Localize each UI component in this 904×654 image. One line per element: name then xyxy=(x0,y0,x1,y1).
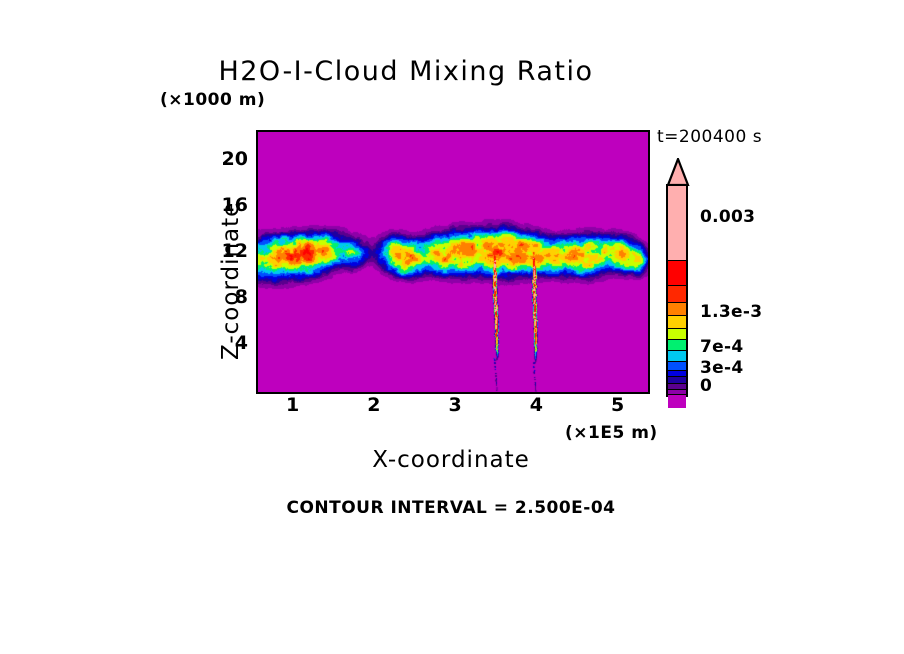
colorbar-segment xyxy=(668,362,686,370)
contour-plot-frame xyxy=(256,130,650,394)
colorbar-segment xyxy=(668,261,686,285)
colorbar-segment xyxy=(668,351,686,361)
y-tick-label: 8 xyxy=(212,286,248,308)
x-axis-title: X-coordinate xyxy=(256,447,646,473)
x-tick-label: 4 xyxy=(530,394,543,416)
time-stamp-label: t=200400 s xyxy=(657,127,762,147)
y-tick-label: 16 xyxy=(212,194,248,216)
x-tick-label: 1 xyxy=(286,394,299,416)
colorbar-segment xyxy=(668,329,686,339)
x-tick-label: 2 xyxy=(367,394,380,416)
colorbar-segment xyxy=(668,316,686,327)
x-tick-label: 3 xyxy=(448,394,461,416)
colorbar-tick-label: 0 xyxy=(700,376,712,396)
contour-plot-canvas xyxy=(258,132,648,392)
colorbar-tick-label: 7e-4 xyxy=(700,337,743,357)
y-axis-ticks: 20161284 xyxy=(212,130,248,390)
colorbar-gradient-bar xyxy=(666,184,688,397)
colorbar-tick-label: 0.003 xyxy=(700,207,755,227)
x-axis-unit-label: (×1E5 m) xyxy=(565,423,658,443)
colorbar-segment xyxy=(668,303,686,316)
contour-interval-label: CONTOUR INTERVAL = 2.500E-04 xyxy=(256,498,646,518)
page-title: H2O-I-Cloud Mixing Ratio xyxy=(0,56,858,87)
colorbar-tick-label: 1.3e-3 xyxy=(700,302,762,322)
colorbar-segment xyxy=(668,340,686,350)
colorbar-segment xyxy=(668,186,686,260)
colorbar-tick-label: 3e-4 xyxy=(700,358,743,378)
colorbar-segment xyxy=(668,395,686,408)
x-axis-ticks: 12345 xyxy=(256,394,650,418)
colorbar-tick-labels: 0.0031.3e-37e-43e-40 xyxy=(700,158,820,408)
y-tick-label: 4 xyxy=(212,332,248,354)
x-tick-label: 5 xyxy=(611,394,624,416)
y-tick-label: 20 xyxy=(212,148,248,170)
y-axis-unit-label: (×1000 m) xyxy=(160,90,265,110)
colorbar-segment xyxy=(668,286,686,302)
y-tick-label: 12 xyxy=(212,240,248,262)
